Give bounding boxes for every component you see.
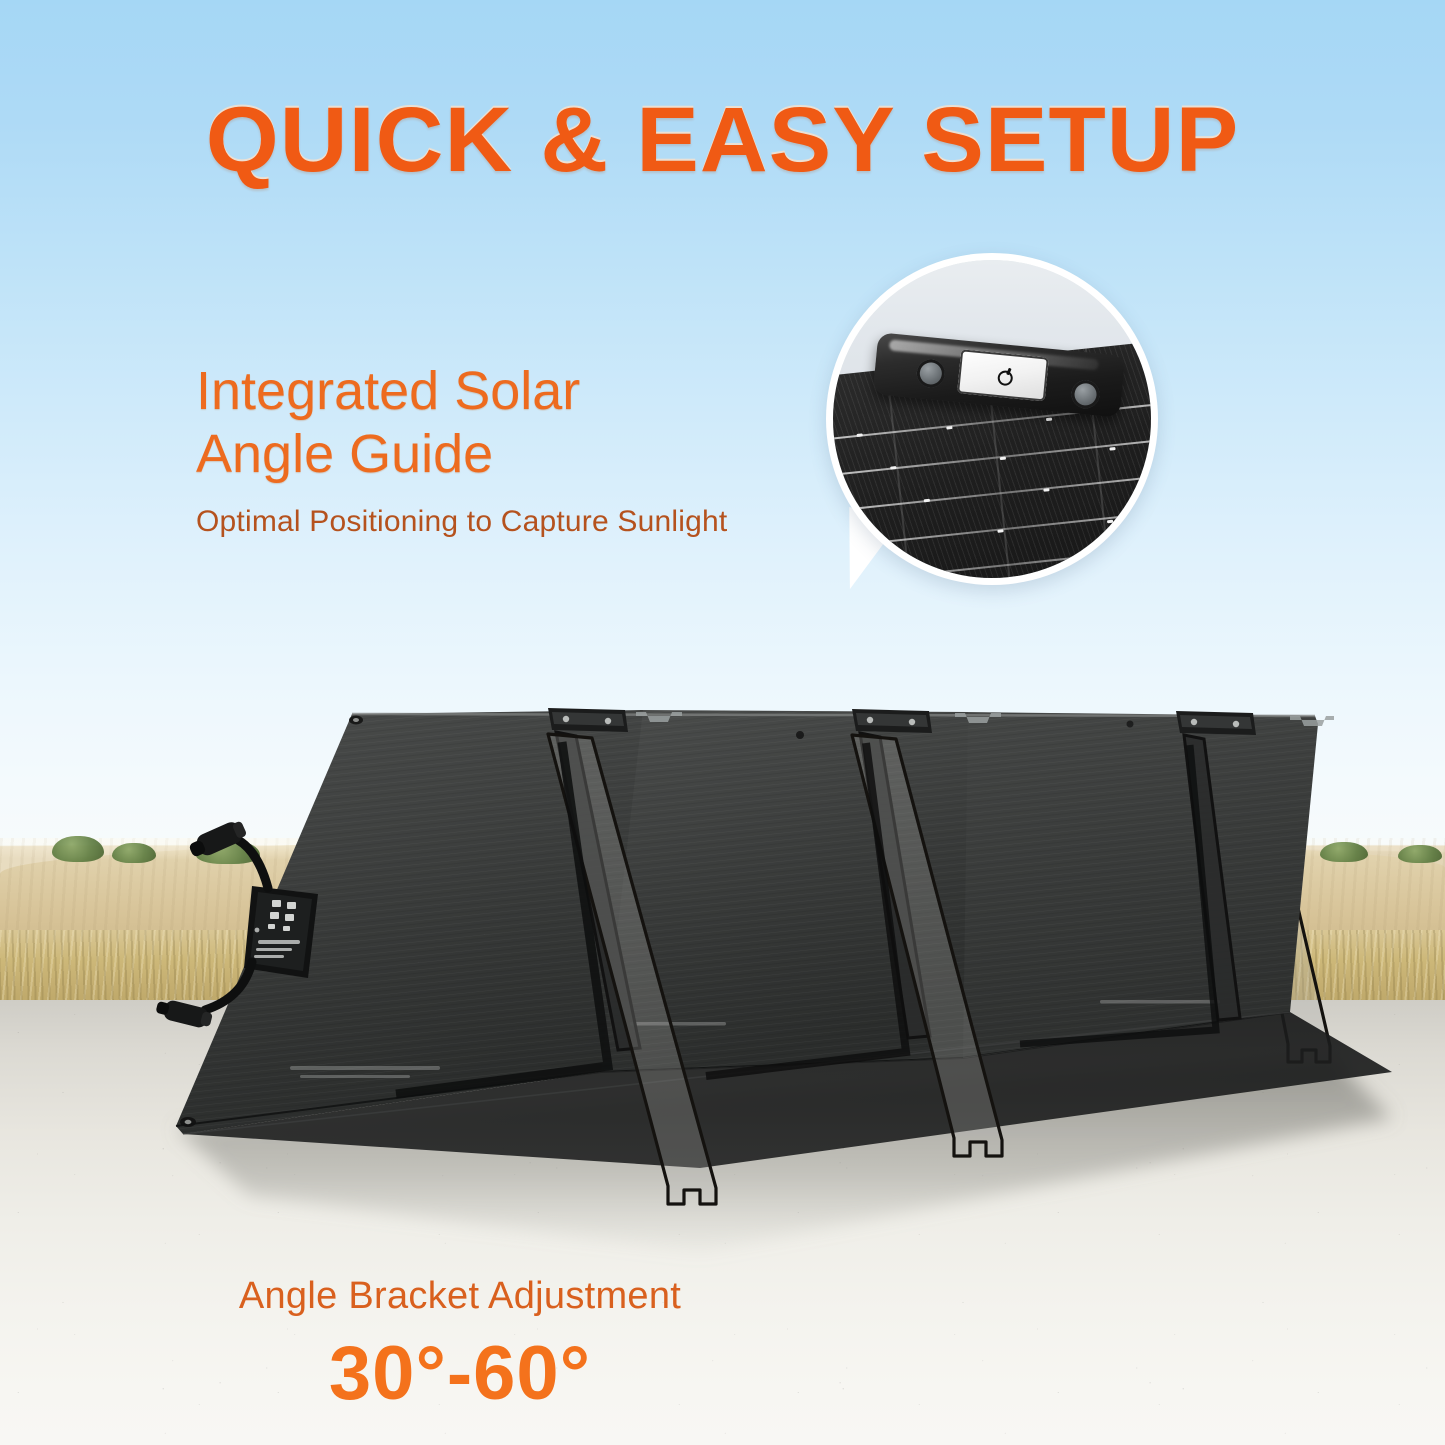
- busbar-dot: [1000, 457, 1006, 460]
- bracket-adjustment-value: 30°-60°: [0, 1330, 920, 1417]
- bracket-screw: [1070, 379, 1101, 410]
- busbar-dot: [1109, 447, 1115, 450]
- busbar-dot: [1043, 488, 1049, 491]
- mc4-connector: [154, 997, 213, 1030]
- feature-headline-line1: Integrated Solar: [196, 360, 816, 423]
- solar-panel-assembly: [0, 0, 1445, 1445]
- hinge-bracket: [548, 708, 628, 732]
- cell-busbar: [833, 541, 1151, 578]
- mc4-connector: [187, 818, 249, 862]
- feature-subline: Optimal Positioning to Capture Sunlight: [196, 503, 856, 541]
- feature-headline-line2: Angle Guide: [196, 423, 816, 486]
- marketing-image: QUICK & EASY SETUP Integrated Solar Angl…: [0, 0, 1445, 1445]
- angle-indicator-mark: [997, 370, 1013, 386]
- busbar-dot: [946, 426, 952, 429]
- bracket-adjustment-label: Angle Bracket Adjustment: [0, 1275, 920, 1318]
- dc-output-cable: [238, 840, 268, 888]
- cell-seam: [886, 369, 915, 578]
- angle-guide-callout: [826, 253, 1158, 585]
- busbar-dot: [1046, 418, 1052, 421]
- page-title: QUICK & EASY SETUP: [0, 88, 1445, 193]
- feature-headline: Integrated Solar Angle Guide: [196, 360, 816, 486]
- angle-indicator-window: [957, 349, 1049, 401]
- cell-busbar: [833, 433, 1151, 481]
- panel-vent-hole: [796, 731, 804, 739]
- panel-vent-hole: [1127, 721, 1134, 728]
- bracket-screw: [916, 358, 947, 389]
- hinge-bracket: [852, 709, 932, 733]
- callout-content: [833, 260, 1151, 578]
- busbar-dot: [1107, 520, 1113, 523]
- hinge-bracket: [1176, 711, 1256, 735]
- panel-back-surface-right: [960, 712, 1318, 1058]
